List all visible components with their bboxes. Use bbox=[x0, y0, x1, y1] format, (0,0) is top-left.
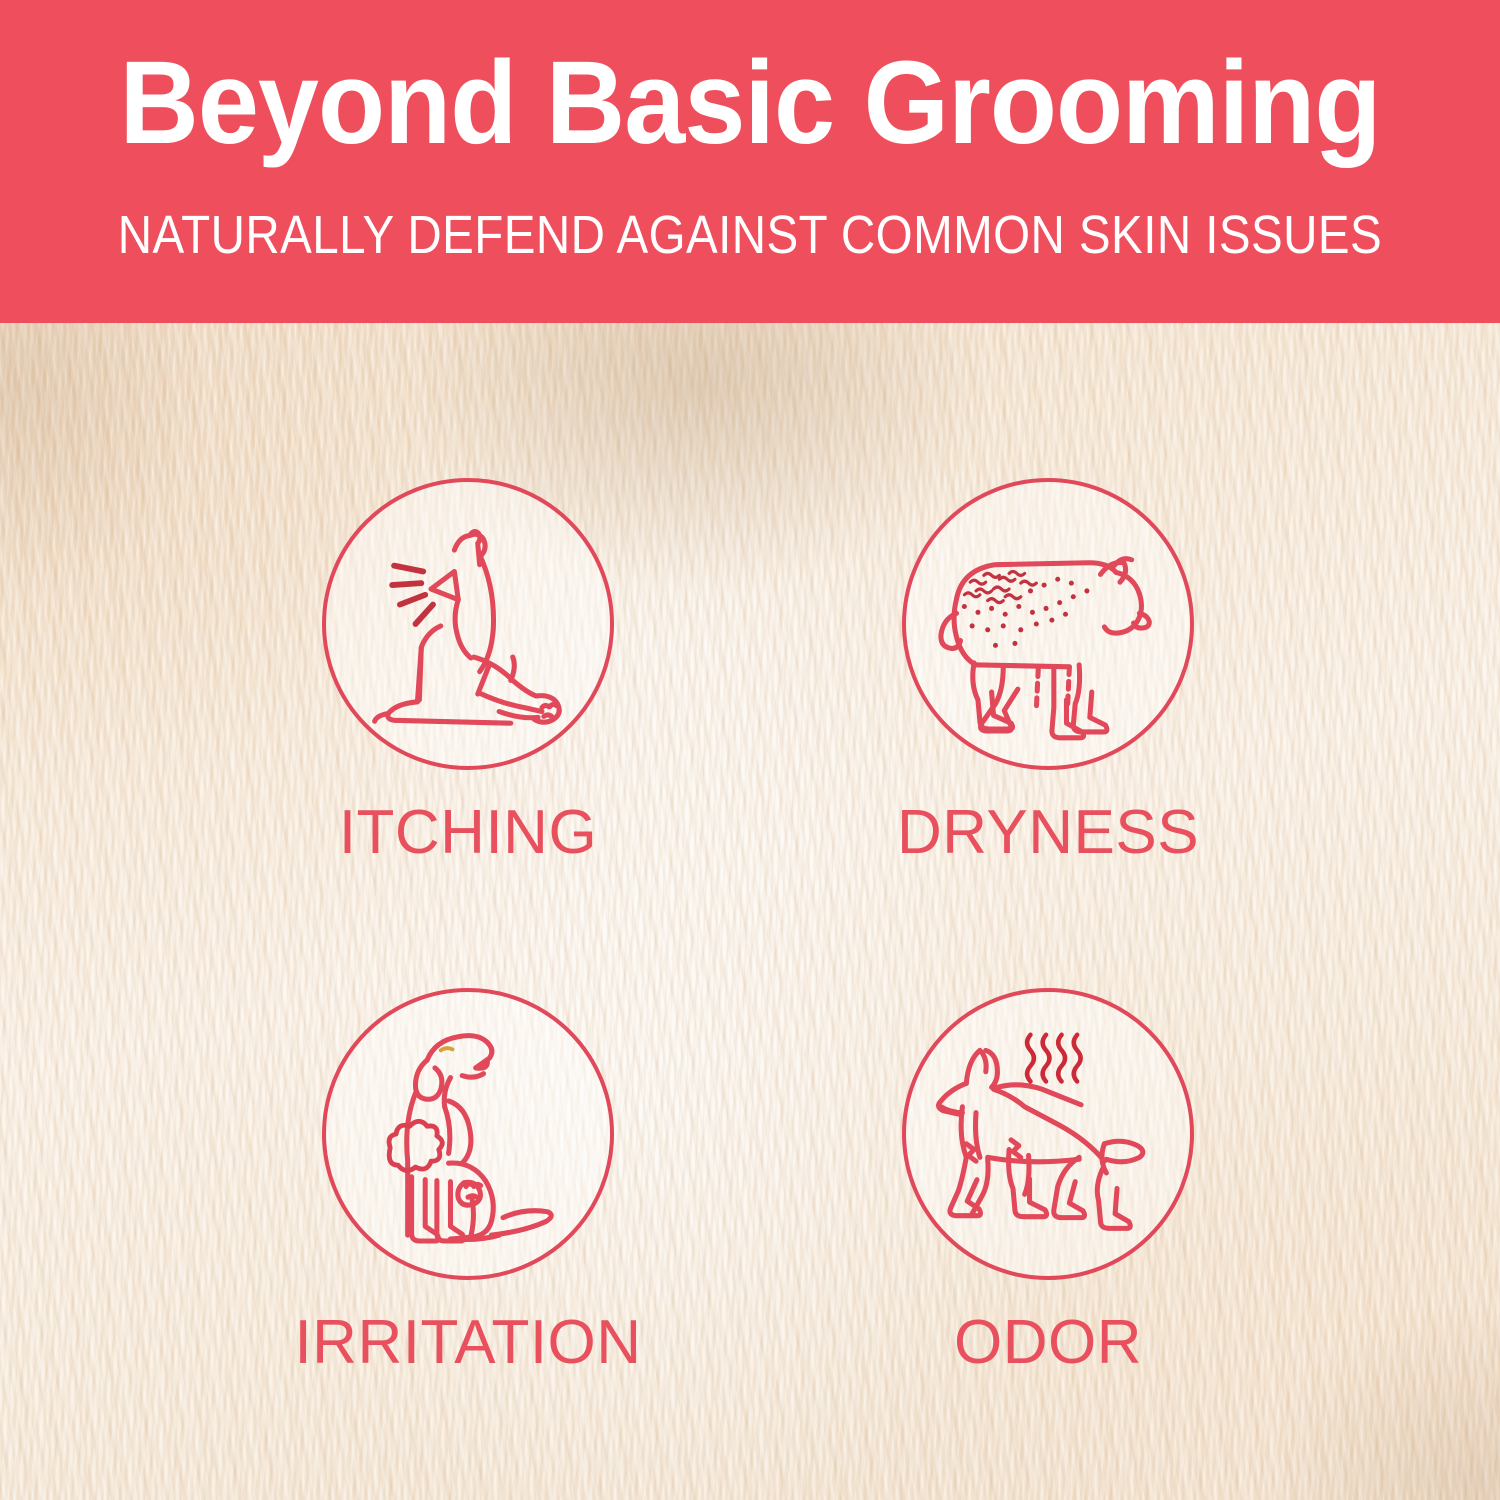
feature-label-itching: ITCHING bbox=[178, 800, 758, 866]
dog-flaky-skin-icon bbox=[906, 482, 1190, 766]
feature-label-dryness: DRYNESS bbox=[758, 800, 1338, 866]
header-band: Beyond Basic Grooming NATURALLY DEFEND A… bbox=[0, 0, 1500, 323]
feature-label-irritation: IRRITATION bbox=[178, 1310, 758, 1376]
icon-circle-itching bbox=[322, 478, 614, 770]
dog-scratching-icon bbox=[326, 482, 610, 766]
icon-circle-irritation bbox=[322, 988, 614, 1280]
page-title: Beyond Basic Grooming bbox=[53, 42, 1448, 164]
irritation-patch bbox=[389, 1121, 442, 1170]
dog-hot-spot-icon bbox=[326, 992, 610, 1276]
icon-circle-odor bbox=[902, 988, 1194, 1280]
odor-wave-lines bbox=[1027, 1035, 1080, 1082]
feature-item-dryness: DRYNESS bbox=[758, 478, 1338, 866]
motion-lines bbox=[392, 566, 433, 624]
nose-highlight bbox=[441, 1048, 453, 1050]
infographic-canvas: Beyond Basic Grooming NATURALLY DEFEND A… bbox=[0, 0, 1500, 1500]
feature-grid: ITCHING bbox=[0, 323, 1500, 1500]
flake-dots bbox=[962, 577, 1090, 648]
page-subtitle: NATURALLY DEFEND AGAINST COMMON SKIN ISS… bbox=[90, 206, 1410, 264]
icon-circle-dryness bbox=[902, 478, 1194, 770]
feature-item-odor: ODOR bbox=[758, 988, 1338, 1376]
feature-label-odor: ODOR bbox=[758, 1310, 1338, 1376]
dog-smell-lines-icon bbox=[906, 992, 1190, 1276]
feature-item-irritation: IRRITATION bbox=[178, 988, 758, 1376]
feature-item-itching: ITCHING bbox=[178, 478, 758, 866]
flake-squiggles bbox=[964, 571, 1036, 602]
